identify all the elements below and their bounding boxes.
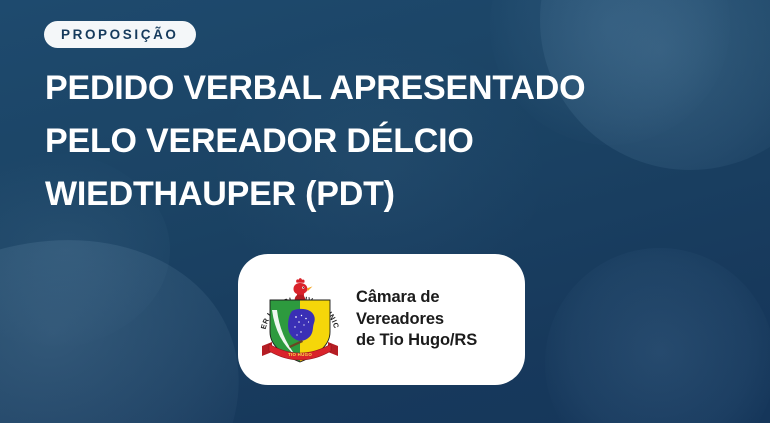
institution-name-line-2: Vereadores [356,309,477,331]
banner-content: PROPOSIÇÃO PEDIDO VERBAL APRESENTADO PEL… [0,0,770,423]
headline-line-1: PEDIDO VERBAL APRESENTADO [45,62,705,115]
institution-name-line-1: Câmara de [356,287,477,309]
institution-logo-card: PODER LEGISLATIVO MUNICIPAL [238,254,525,385]
page-title: PEDIDO VERBAL APRESENTADO PELO VEREADOR … [45,62,705,221]
institution-name-line-3: de Tio Hugo/RS [356,330,477,352]
coat-of-arms-icon: PODER LEGISLATIVO MUNICIPAL [256,270,344,370]
proposition-banner: PROPOSIÇÃO PEDIDO VERBAL APRESENTADO PEL… [0,0,770,423]
institution-name: Câmara de Vereadores de Tio Hugo/RS [356,287,477,352]
headline-line-3: WIEDTHAUPER (PDT) [45,168,705,221]
headline-line-2: PELO VEREADOR DÉLCIO [45,115,705,168]
kicker-badge: PROPOSIÇÃO [44,21,196,48]
svg-text:TIO HUGO: TIO HUGO [288,352,312,357]
